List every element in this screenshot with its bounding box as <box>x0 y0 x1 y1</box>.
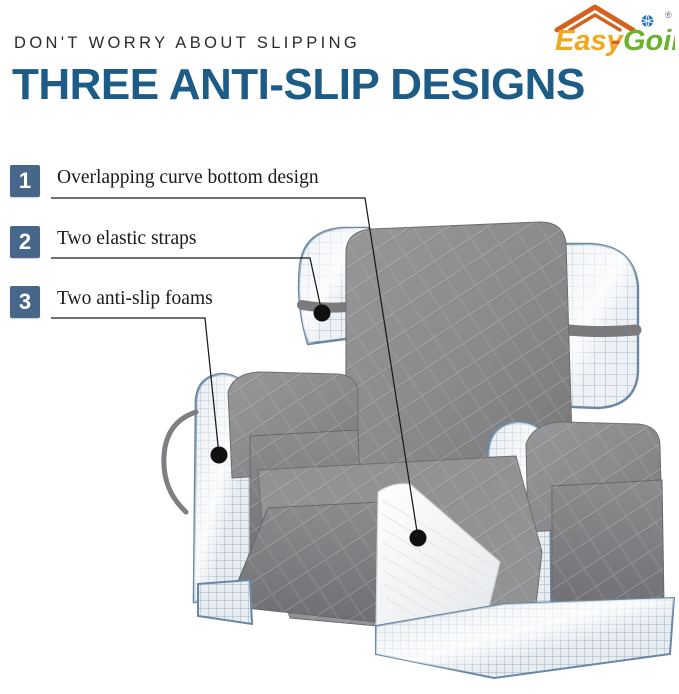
elastic-strap-loop <box>164 412 196 512</box>
product-illustration <box>0 0 679 694</box>
feature-label-1: Overlapping curve bottom design <box>57 167 319 189</box>
feature-badge-2: 2 <box>10 226 40 258</box>
feature-label-3: Two anti-slip foams <box>57 288 213 310</box>
feature-badge-1: 1 <box>10 165 40 197</box>
left-bottom-mesh <box>198 580 252 624</box>
feature-label-2: Two elastic straps <box>57 228 196 250</box>
infographic-page: Easy - Going ® DON'T WORRY ABOUT SLIPPIN… <box>0 0 679 694</box>
feature-badge-3: 3 <box>10 286 40 318</box>
elastic-strap-left <box>302 305 346 308</box>
